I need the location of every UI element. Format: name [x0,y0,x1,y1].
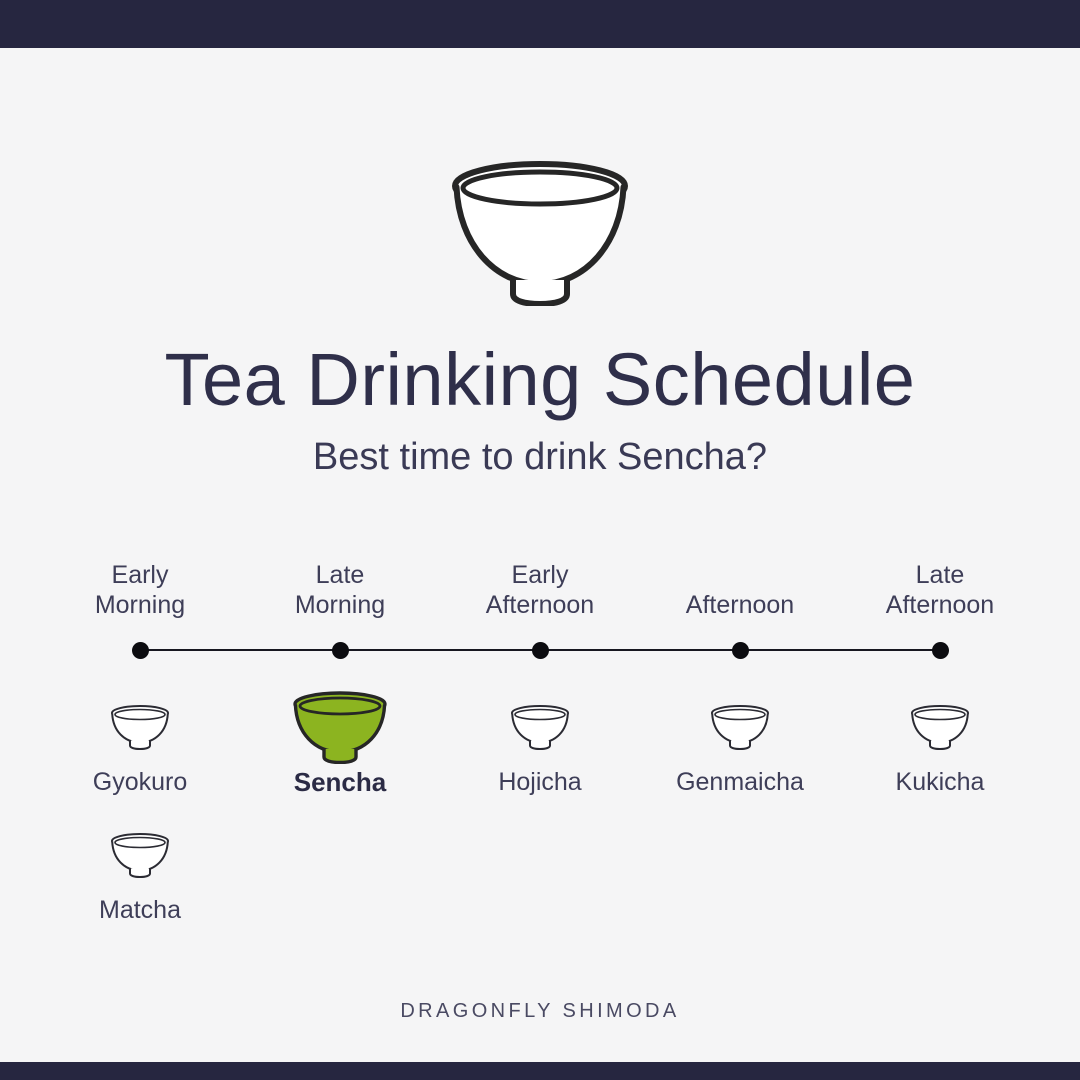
tea-bowl-icon [440,690,640,764]
tea-row: Matcha [0,818,1080,946]
tea-item-kukicha[interactable]: Kukicha [840,690,1040,797]
tea-bowl-icon [40,818,240,892]
tea-row: Gyokuro Sencha [0,690,1080,818]
timeline-slot-early-afternoon[interactable]: EarlyAfternoon [440,560,640,670]
timeline-dot[interactable] [932,642,949,659]
timeline-label-line2: Afternoon [886,591,994,619]
tea-label: Matcha [40,895,240,925]
hero-tea-bowl-icon [0,158,1080,311]
tea-item-sencha[interactable]: Sencha [240,690,440,797]
timeline-dot[interactable] [332,642,349,659]
timeline-label: EarlyMorning [40,560,240,620]
footer-brand: DRAGONFLY SHIMODA [0,1000,1080,1023]
page-title: Tea Drinking Schedule [0,333,1080,427]
timeline-dot[interactable] [132,642,149,659]
timeline-label-line1: Early [512,561,569,589]
timeline-label: EarlyAfternoon [440,560,640,620]
tea-bowl-icon [40,690,240,764]
timeline-slot-early-morning[interactable]: EarlyMorning [40,560,240,670]
timeline-slot-late-morning[interactable]: LateMorning [240,560,440,670]
tea-bowl-icon [840,690,1040,764]
timeline-slot-late-afternoon[interactable]: LateAfternoon [840,560,1040,670]
timeline-dot[interactable] [732,642,749,659]
page-subtitle: Best time to drink Sencha? [0,431,1080,483]
timeline-dot[interactable] [532,642,549,659]
tea-item-hojicha[interactable]: Hojicha [440,690,640,797]
tea-label: Gyokuro [40,767,240,797]
timeline-label-line2: Morning [95,591,185,619]
tea-item-gyokuro[interactable]: Gyokuro [40,690,240,797]
timeline-label: LateMorning [240,560,440,620]
timeline-slot-afternoon[interactable]: Afternoon [640,560,840,670]
timeline-label-line2: Morning [295,591,385,619]
tea-item-genmaicha[interactable]: Genmaicha [640,690,840,797]
tea-grid: Gyokuro Sencha [0,690,1080,946]
bottom-decorative-bar [0,1062,1080,1080]
tea-label: Genmaicha [640,767,840,797]
timeline-label: LateAfternoon [840,560,1040,620]
top-decorative-bar [0,0,1080,48]
timeline-label: Afternoon [640,590,840,620]
tea-label: Hojicha [440,767,640,797]
tea-item-matcha[interactable]: Matcha [40,818,240,925]
timeline: EarlyMorning LateMorning EarlyAfternoon … [0,560,1080,670]
timeline-label-line2: Afternoon [486,591,594,619]
tea-label: Sencha [240,767,440,797]
tea-bowl-icon [640,690,840,764]
tea-label: Kukicha [840,767,1040,797]
timeline-label-line1: Early [112,561,169,589]
timeline-label-line1: Late [316,561,365,589]
timeline-label-line1: Late [916,561,965,589]
tea-bowl-icon-highlighted [240,690,440,764]
